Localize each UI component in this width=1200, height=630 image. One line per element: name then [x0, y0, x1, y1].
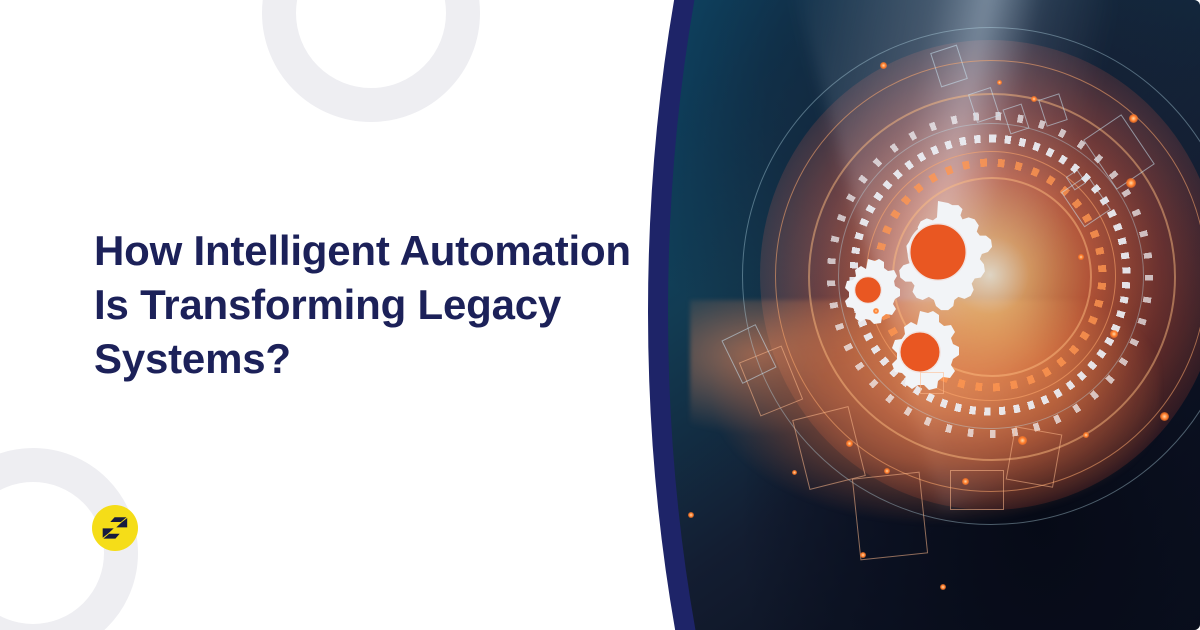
headline-line-2: Is Transforming Legacy [94, 278, 734, 332]
page-title: How Intelligent Automation Is Transformi… [94, 224, 734, 386]
headline-line-3: Systems? [94, 332, 734, 386]
gear-cluster [820, 190, 1080, 420]
headline-line-1: How Intelligent Automation [94, 224, 734, 278]
brand-logo[interactable] [92, 505, 138, 551]
blog-banner: How Intelligent Automation Is Transformi… [0, 0, 1200, 630]
decorative-ring-top [262, 0, 480, 122]
logo-mark-icon [100, 515, 130, 541]
